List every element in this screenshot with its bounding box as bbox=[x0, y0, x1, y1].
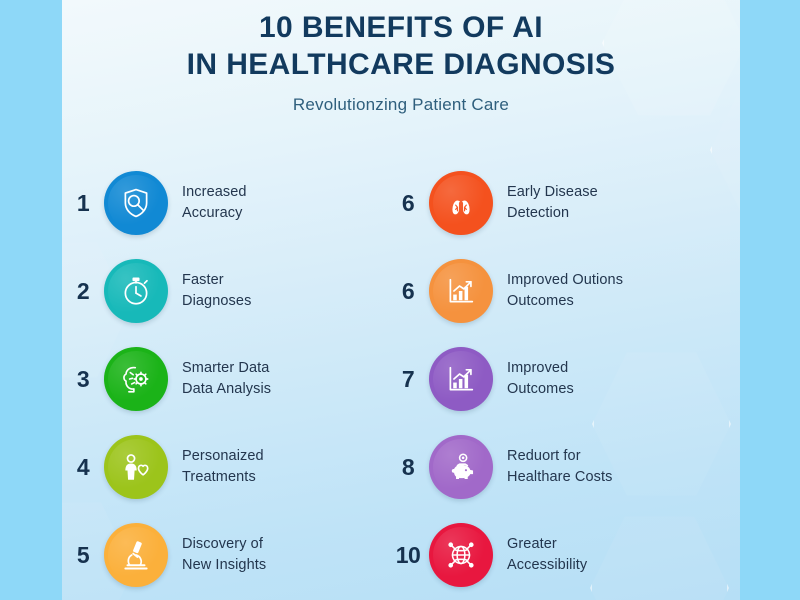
benefit-label: Early Disease Detection bbox=[507, 182, 598, 223]
brain-gear-icon bbox=[104, 347, 168, 411]
benefit-label-line-1: Increased bbox=[182, 184, 247, 200]
benefit-label-line-1: Smarter Data bbox=[182, 360, 269, 376]
benefit-label-line-2: New Insights bbox=[182, 555, 266, 576]
benefit-number: 5 bbox=[62, 542, 104, 569]
benefit-label: Personaized Treatments bbox=[182, 446, 264, 487]
benefit-label: Reduort for Healthare Costs bbox=[507, 446, 612, 487]
benefit-label: Greater Accessibility bbox=[507, 534, 587, 575]
bar-chart-arrow-icon bbox=[429, 259, 493, 323]
benefit-number: 2 bbox=[62, 278, 104, 305]
content-panel: 10 BENEFITS OF AI IN HEALTHCARE DIAGNOSI… bbox=[62, 0, 740, 600]
benefits-column-right: 6 Early Disease Detection bbox=[387, 160, 726, 590]
benefits-columns: 1 Increased Accuracy 2 bbox=[62, 160, 740, 590]
benefit-item-7[interactable]: 6 Improved Outions Outcomes bbox=[387, 248, 726, 334]
benefit-item-3[interactable]: 3 Smarter Data Data Analysis bbox=[62, 336, 401, 422]
benefit-label-line-2: Detection bbox=[507, 203, 598, 224]
benefit-label-line-1: Reduort for bbox=[507, 448, 581, 464]
benefit-number: 7 bbox=[387, 366, 429, 393]
benefit-label-line-2: Outcomes bbox=[507, 379, 574, 400]
benefit-label-line-1: Personaized bbox=[182, 448, 264, 464]
benefit-label-line-1: Improved bbox=[507, 360, 568, 376]
page-title-line-2: IN HEALTHCARE DIAGNOSIS bbox=[62, 47, 740, 84]
benefit-number: 6 bbox=[387, 190, 429, 217]
benefit-label: Improved Outcomes bbox=[507, 358, 574, 399]
benefit-item-10[interactable]: 10 bbox=[387, 512, 726, 598]
benefit-label-line-2: Diagnoses bbox=[182, 291, 251, 312]
stopwatch-icon bbox=[104, 259, 168, 323]
benefit-label-line-1: Improved Outions bbox=[507, 272, 623, 288]
benefit-item-6[interactable]: 6 Early Disease Detection bbox=[387, 160, 726, 246]
benefit-number: 4 bbox=[62, 454, 104, 481]
benefit-label: Discovery of New Insights bbox=[182, 534, 266, 575]
benefit-label: Faster Diagnoses bbox=[182, 270, 251, 311]
benefits-column-left: 1 Increased Accuracy 2 bbox=[62, 160, 401, 590]
globe-network-icon bbox=[429, 523, 493, 587]
benefit-label-line-2: Treatments bbox=[182, 467, 264, 488]
benefit-label-line-2: Accuracy bbox=[182, 203, 247, 224]
piggy-bank-icon bbox=[429, 435, 493, 499]
person-heart-icon bbox=[104, 435, 168, 499]
benefit-item-8[interactable]: 7 Improved Outcomes bbox=[387, 336, 726, 422]
benefit-number: 3 bbox=[62, 366, 104, 393]
benefit-number: 1 bbox=[62, 190, 104, 217]
benefit-label: Smarter Data Data Analysis bbox=[182, 358, 271, 399]
benefit-label-line-1: Greater bbox=[507, 536, 557, 552]
page-title-line-1: 10 BENEFITS OF AI bbox=[62, 10, 740, 47]
benefit-label-line-2: Accessibility bbox=[507, 555, 587, 576]
poster-header: 10 BENEFITS OF AI IN HEALTHCARE DIAGNOSI… bbox=[62, 10, 740, 115]
benefit-item-4[interactable]: 4 Personaized Treatments bbox=[62, 424, 401, 510]
benefit-label-line-2: Data Analysis bbox=[182, 379, 271, 400]
benefit-number: 10 bbox=[387, 542, 429, 569]
page-subtitle: Revolutionzing Patient Care bbox=[62, 95, 740, 115]
benefit-number: 6 bbox=[387, 278, 429, 305]
benefit-item-5[interactable]: 5 Discovery of New Insights bbox=[62, 512, 401, 598]
benefit-label-line-1: Discovery of bbox=[182, 536, 263, 552]
benefit-label-line-1: Faster bbox=[182, 272, 224, 288]
microscope-icon bbox=[104, 523, 168, 587]
bar-chart-arrow-icon bbox=[429, 347, 493, 411]
benefit-label-line-2: Healthare Costs bbox=[507, 467, 612, 488]
benefit-item-2[interactable]: 2 Faster Diagnoses bbox=[62, 248, 401, 334]
benefit-item-1[interactable]: 1 Increased Accuracy bbox=[62, 160, 401, 246]
benefit-item-9[interactable]: 8 Reduort for Healthare Cos bbox=[387, 424, 726, 510]
infographic-poster: 10 BENEFITS OF AI IN HEALTHCARE DIAGNOSI… bbox=[0, 0, 800, 600]
benefit-label: Improved Outions Outcomes bbox=[507, 270, 623, 311]
benefit-number: 8 bbox=[387, 454, 429, 481]
benefit-label: Increased Accuracy bbox=[182, 182, 247, 223]
benefit-label-line-2: Outcomes bbox=[507, 291, 623, 312]
lungs-icon bbox=[429, 171, 493, 235]
shield-magnifier-icon bbox=[104, 171, 168, 235]
benefit-label-line-1: Early Disease bbox=[507, 184, 598, 200]
